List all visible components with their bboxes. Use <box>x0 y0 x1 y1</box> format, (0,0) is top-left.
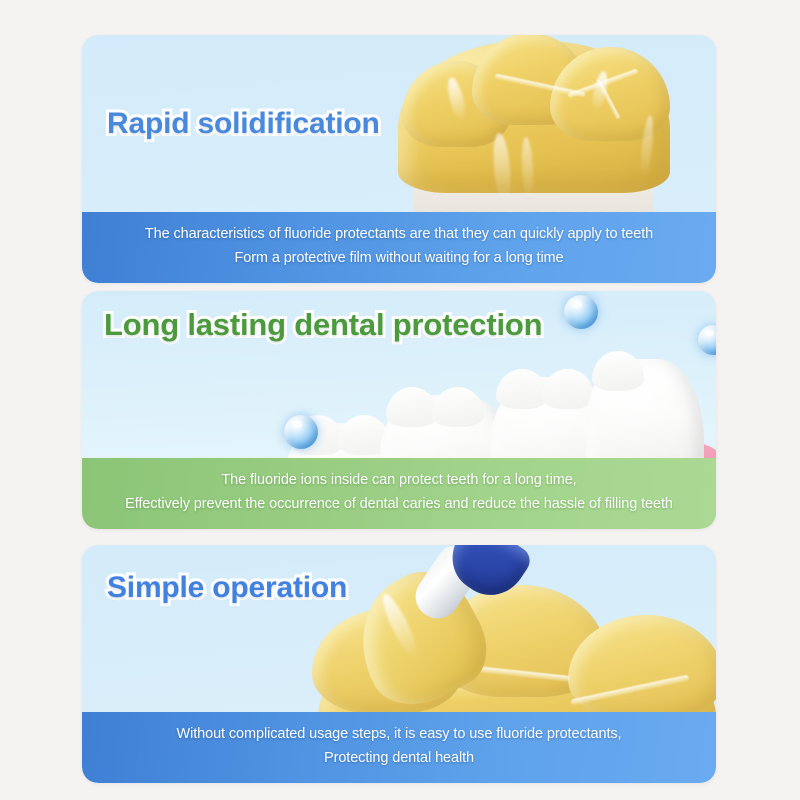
fluoride-ion-particle <box>564 295 598 329</box>
varnish-drip <box>336 556 502 723</box>
panel-heading-long-lasting-protection: Long lasting dental protection <box>104 307 542 343</box>
caption-line: Without complicated usage steps, it is e… <box>96 723 702 746</box>
caption-line: The fluoride ions inside can protect tee… <box>96 469 702 492</box>
panel-heading-rapid-solidification: Rapid solidification <box>107 107 380 141</box>
molar-crown <box>398 41 670 193</box>
yellow-coated-molar-graphic <box>384 35 684 227</box>
molar-cusp <box>402 61 510 147</box>
fluoride-ion-particle <box>698 325 716 355</box>
gloss-highlight <box>491 132 513 203</box>
gloss-highlight <box>590 70 610 112</box>
molar-groove <box>494 73 585 97</box>
feature-panel-long-lasting-protection: Long lasting dental protection The fluor… <box>82 291 716 529</box>
tooth-cusp <box>592 351 644 391</box>
gloss-highlight <box>445 76 468 122</box>
caption-line: Protecting dental health <box>96 747 702 770</box>
tooth-cusp <box>292 415 344 455</box>
gloss-highlight <box>520 137 534 199</box>
feature-panel-simple-operation: Simple operation Without complicated usa… <box>82 545 716 783</box>
tooth-cusp <box>432 387 484 427</box>
panel-caption-long-lasting-protection: The fluoride ions inside can protect tee… <box>82 458 716 529</box>
applicator-shaft <box>407 545 485 627</box>
feature-panel-rapid-solidification: Rapid solidification The characteristics… <box>82 35 716 283</box>
molar-cusp <box>472 35 588 125</box>
caption-line: Effectively prevent the occurrence of de… <box>96 493 702 516</box>
molar-cusp <box>550 47 670 141</box>
tooth-groove <box>571 675 690 706</box>
applicator-blue-tip <box>439 545 535 608</box>
caption-line: The characteristics of fluoride protecta… <box>96 223 702 246</box>
tooth-lobe <box>312 609 462 713</box>
panel-heading-simple-operation: Simple operation <box>107 571 347 605</box>
product-feature-poster: Rapid solidification The characteristics… <box>0 0 800 800</box>
tooth-cusp <box>386 387 438 427</box>
tooth-cusp <box>496 369 548 409</box>
panel-caption-rapid-solidification: The characteristics of fluoride protecta… <box>82 212 716 283</box>
tooth-lobe <box>568 615 716 719</box>
tooth-lobe <box>436 585 606 697</box>
panel-caption-simple-operation: Without complicated usage steps, it is e… <box>82 712 716 783</box>
fluoride-ion-particle <box>284 415 318 449</box>
tooth-groove <box>438 662 570 682</box>
tooth-cusp <box>542 369 594 409</box>
molar-groove <box>596 79 620 120</box>
gloss-highlight <box>377 591 422 661</box>
gloss-highlight <box>639 115 656 180</box>
molar-groove <box>567 68 638 98</box>
tooth-cusp <box>338 415 390 455</box>
caption-line: Form a protective film without waiting f… <box>96 247 702 270</box>
